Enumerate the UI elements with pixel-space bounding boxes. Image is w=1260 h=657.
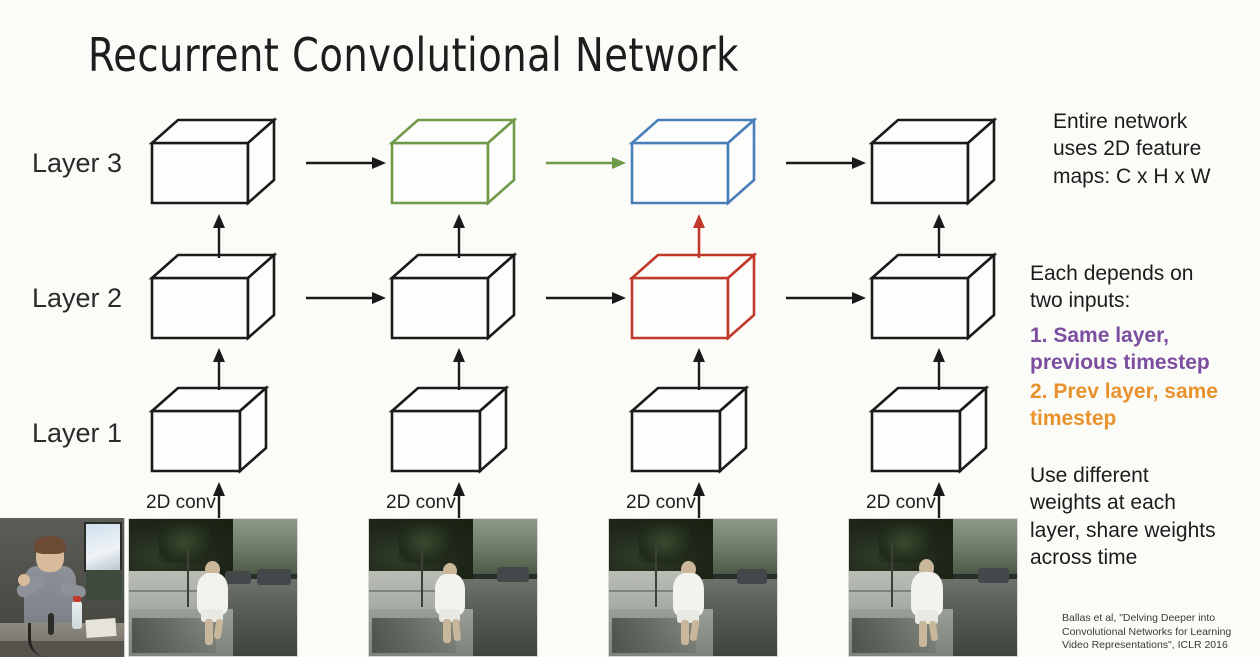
arrow-layer2-t2-t3 — [546, 288, 626, 308]
arrow-up-l2-l3-t4 — [930, 214, 948, 258]
arrow-layer3-t1-t2 — [306, 153, 386, 173]
cube-wireframe — [632, 255, 754, 338]
cube-wireframe — [872, 255, 994, 338]
runner-leg — [681, 620, 689, 645]
papers — [85, 618, 116, 638]
arrow-up-l2-l3-t2 — [450, 214, 468, 258]
frame-pole — [891, 543, 893, 607]
frame-pole — [187, 549, 189, 607]
frame-shadow — [132, 618, 216, 654]
citation: Ballas et al, "Delving Deeper into Convo… — [1062, 612, 1252, 653]
frame-trees-highlight — [639, 522, 689, 563]
bottle-cap — [73, 596, 81, 602]
conv-label-t3: 2D conv — [626, 492, 696, 514]
cube-wireframe — [392, 255, 514, 338]
lecturer-hair — [34, 536, 66, 554]
video-frame-1 — [128, 518, 298, 657]
arrow-up-l1-l2-t3 — [690, 348, 708, 390]
cube-wireframe — [632, 388, 746, 471]
frame-car — [737, 569, 767, 584]
whiteboard — [86, 570, 122, 600]
arrow-up-l2-l3-t1 — [210, 214, 228, 258]
runner-leg — [205, 619, 213, 645]
lecturer-hand — [18, 574, 30, 586]
conv-label-t1: 2D conv — [146, 492, 216, 514]
arrow-up-l1-l2-t2 — [450, 348, 468, 390]
lecturer-webcam — [0, 518, 125, 657]
note-weights: Use different weights at each layer, sha… — [1030, 462, 1252, 571]
cube-wireframe — [392, 120, 514, 203]
frame-trees-highlight — [879, 522, 929, 563]
frame-car — [497, 567, 529, 582]
note-input-1: 1. Same layer, previous timestep — [1030, 322, 1245, 377]
water-bottle — [72, 601, 82, 629]
conv-label-t2: 2D conv — [386, 492, 456, 514]
frame-car — [257, 569, 291, 585]
arrow-up-l2-l3-t3 — [690, 214, 708, 258]
frame-trees-highlight — [399, 522, 449, 563]
note-depends: Each depends on two inputs: — [1030, 260, 1245, 315]
runner-leg — [919, 621, 927, 647]
note-input-2: 2. Prev layer, same timestep — [1030, 378, 1250, 433]
arrow-layer3-t3-t4 — [786, 153, 866, 173]
frame-pole — [655, 545, 657, 607]
arrow-input-t2 — [450, 482, 468, 522]
cube-wireframe — [152, 120, 274, 203]
frame-car — [225, 571, 251, 584]
slide-canvas: Recurrent Convolutional Network Layer 3 … — [0, 0, 1260, 657]
cube-wireframe — [392, 388, 506, 471]
arrow-layer2-t1-t2 — [306, 288, 386, 308]
layer-label-1: Layer 1 — [32, 418, 122, 449]
cube-wireframe — [152, 388, 266, 471]
podium-front — [0, 641, 124, 657]
page-title: Recurrent Convolutional Network — [88, 28, 739, 82]
note-feature-maps: Entire network uses 2D feature maps: C x… — [1053, 108, 1253, 190]
frame-pole — [421, 547, 423, 607]
layer-label-3: Layer 3 — [32, 148, 122, 179]
cube-wireframe — [632, 120, 754, 203]
arrow-up-l1-l2-t1 — [210, 348, 228, 390]
runner-leg — [443, 619, 451, 643]
frame-trees-highlight — [159, 522, 209, 563]
conv-label-t4: 2D conv — [866, 492, 936, 514]
frame-car — [978, 568, 1009, 583]
arrow-input-t1 — [210, 482, 228, 522]
video-frame-3 — [608, 518, 778, 657]
projector-screen — [84, 522, 122, 572]
arrow-layer2-t3-t4 — [786, 288, 866, 308]
video-frame-4 — [848, 518, 1018, 657]
frame-wall-line — [129, 590, 206, 592]
arrow-input-t3 — [690, 482, 708, 522]
cube-wireframe — [872, 388, 986, 471]
layer-label-2: Layer 2 — [32, 283, 122, 314]
cube-wireframe — [872, 120, 994, 203]
arrow-input-t4 — [930, 482, 948, 522]
arrow-layer3-t2-t3 — [546, 153, 626, 173]
video-frame-2 — [368, 518, 538, 657]
cube-wireframe — [152, 255, 274, 338]
arrow-up-l1-l2-t4 — [930, 348, 948, 390]
